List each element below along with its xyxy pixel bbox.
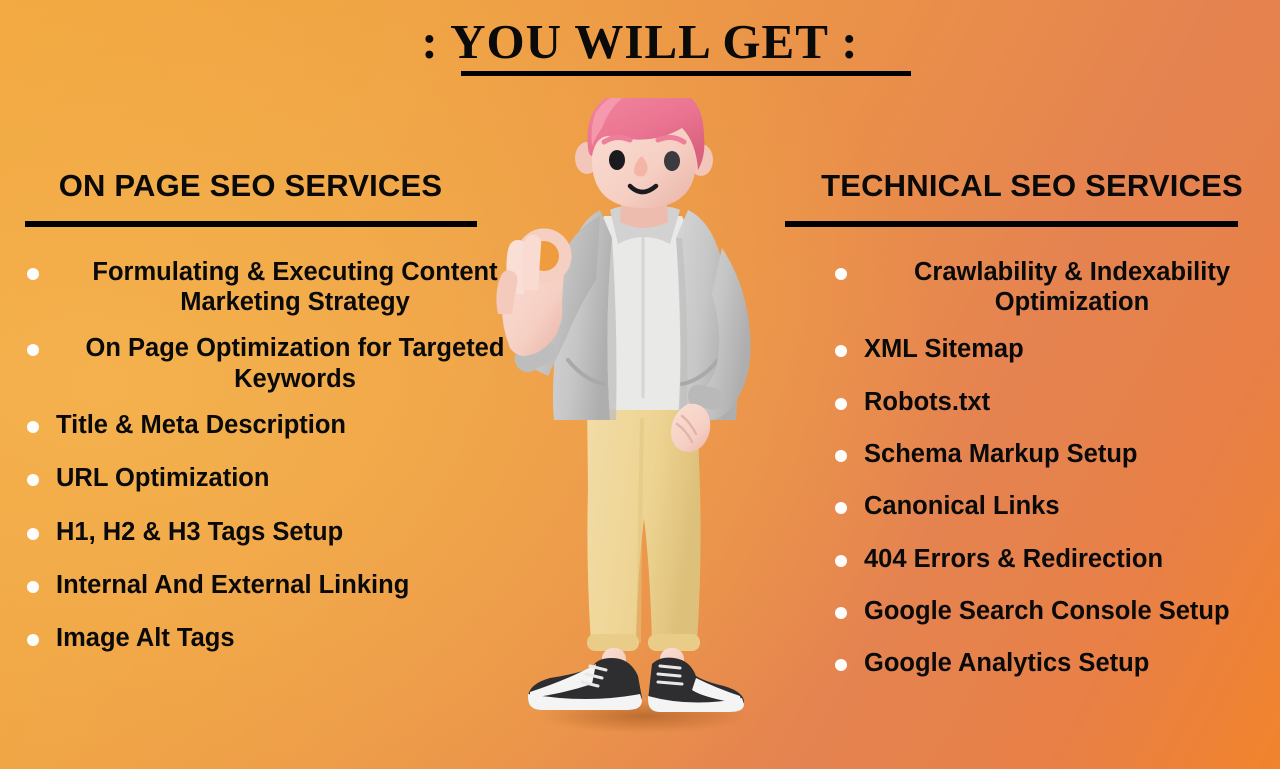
- list-item: Image Alt Tags: [22, 623, 534, 653]
- list-item: Formulating & Executing Content Marketin…: [22, 257, 534, 318]
- eyebrow-right: [658, 137, 684, 142]
- list-item-label: Title & Meta Description: [56, 411, 346, 439]
- pant-cuff-right: [648, 634, 700, 651]
- list-item: XML Sitemap: [830, 334, 1280, 364]
- pant-cuff-left: [587, 634, 639, 651]
- list-item: H1, H2 & H3 Tags Setup: [22, 517, 534, 547]
- list-item: On Page Optimization for Targeted Keywor…: [22, 333, 534, 394]
- list-item: URL Optimization: [22, 463, 534, 493]
- list-item-label: Formulating & Executing Content Marketin…: [92, 258, 497, 316]
- mouth: [630, 186, 656, 192]
- service-list-technical: Crawlability & Indexability Optimization…: [830, 257, 1280, 679]
- pants: [587, 398, 701, 643]
- list-item: Title & Meta Description: [22, 410, 534, 440]
- bullet-icon: [835, 345, 847, 357]
- bullet-icon: [27, 634, 39, 646]
- list-item: 404 Errors & Redirection: [830, 544, 1280, 574]
- list-item: Schema Markup Setup: [830, 439, 1280, 469]
- jacket-collar: [610, 207, 680, 244]
- column-technical-seo: TECHNICAL SEO SERVICES Crawlability & In…: [770, 168, 1280, 701]
- list-item-label: Image Alt Tags: [56, 624, 235, 652]
- service-list-on-page: Formulating & Executing Content Marketin…: [22, 257, 534, 654]
- page-title: : YOU WILL GET :: [0, 16, 1280, 67]
- list-item-label: Google Analytics Setup: [864, 649, 1149, 677]
- column-heading-underline-left: [25, 221, 477, 227]
- bullet-icon: [835, 555, 847, 567]
- bullet-icon: [835, 268, 847, 280]
- neck: [620, 186, 668, 228]
- list-item: Google Analytics Setup: [830, 648, 1280, 678]
- face: [592, 98, 696, 208]
- list-item-label: Robots.txt: [864, 388, 990, 416]
- bullet-icon: [27, 528, 39, 540]
- nose: [634, 156, 648, 177]
- list-item: Crawlability & Indexability Optimization: [830, 257, 1280, 318]
- column-heading-right: TECHNICAL SEO SERVICES: [770, 168, 1280, 204]
- column-heading-underline-right: [785, 221, 1238, 227]
- list-item: Internal And External Linking: [22, 570, 534, 600]
- bullet-icon: [835, 659, 847, 671]
- cuff-right: [686, 383, 724, 412]
- list-item-label: H1, H2 & H3 Tags Setup: [56, 518, 343, 546]
- list-item-label: XML Sitemap: [864, 335, 1024, 363]
- bullet-icon: [27, 421, 39, 433]
- page-title-block: : YOU WILL GET :: [0, 16, 1280, 67]
- eye-left: [609, 150, 625, 170]
- shoe-left: [528, 658, 642, 710]
- hand-on-hip: [671, 404, 710, 452]
- jacket: [553, 210, 612, 420]
- list-item-label: 404 Errors & Redirection: [864, 545, 1163, 573]
- list-item: Google Search Console Setup: [830, 596, 1280, 626]
- bullet-icon: [27, 581, 39, 593]
- bullet-icon: [27, 344, 39, 356]
- bullet-icon: [835, 450, 847, 462]
- eye-right: [664, 151, 680, 171]
- ground-shadow: [539, 699, 749, 733]
- list-item: Robots.txt: [830, 387, 1280, 417]
- column-heading-left: ON PAGE SEO SERVICES: [0, 168, 545, 204]
- list-item-label: Canonical Links: [864, 492, 1060, 520]
- ear-right: [689, 144, 713, 176]
- jacket-pocket-right: [682, 360, 718, 384]
- list-item-label: On Page Optimization for Targeted Keywor…: [86, 334, 505, 392]
- column-on-page-seo: ON PAGE SEO SERVICES Formulating & Execu…: [0, 168, 545, 677]
- list-item-label: URL Optimization: [56, 464, 269, 492]
- bullet-icon: [835, 398, 847, 410]
- page-title-underline: [461, 71, 911, 76]
- ear-left: [575, 142, 599, 174]
- bullet-icon: [835, 502, 847, 514]
- arm-on-hip: [688, 248, 751, 421]
- bullet-icon: [835, 607, 847, 619]
- bullet-icon: [27, 268, 39, 280]
- list-item-label: Crawlability & Indexability Optimization: [914, 258, 1230, 316]
- list-item-label: Internal And External Linking: [56, 571, 409, 599]
- list-item-label: Google Search Console Setup: [864, 597, 1230, 625]
- list-item-label: Schema Markup Setup: [864, 440, 1138, 468]
- bullet-icon: [27, 474, 39, 486]
- hair: [587, 98, 704, 170]
- eyebrow-left: [604, 137, 630, 142]
- shoe-right: [648, 658, 744, 712]
- jacket-pocket-left: [568, 360, 604, 384]
- shirt: [588, 216, 699, 410]
- list-item: Canonical Links: [830, 491, 1280, 521]
